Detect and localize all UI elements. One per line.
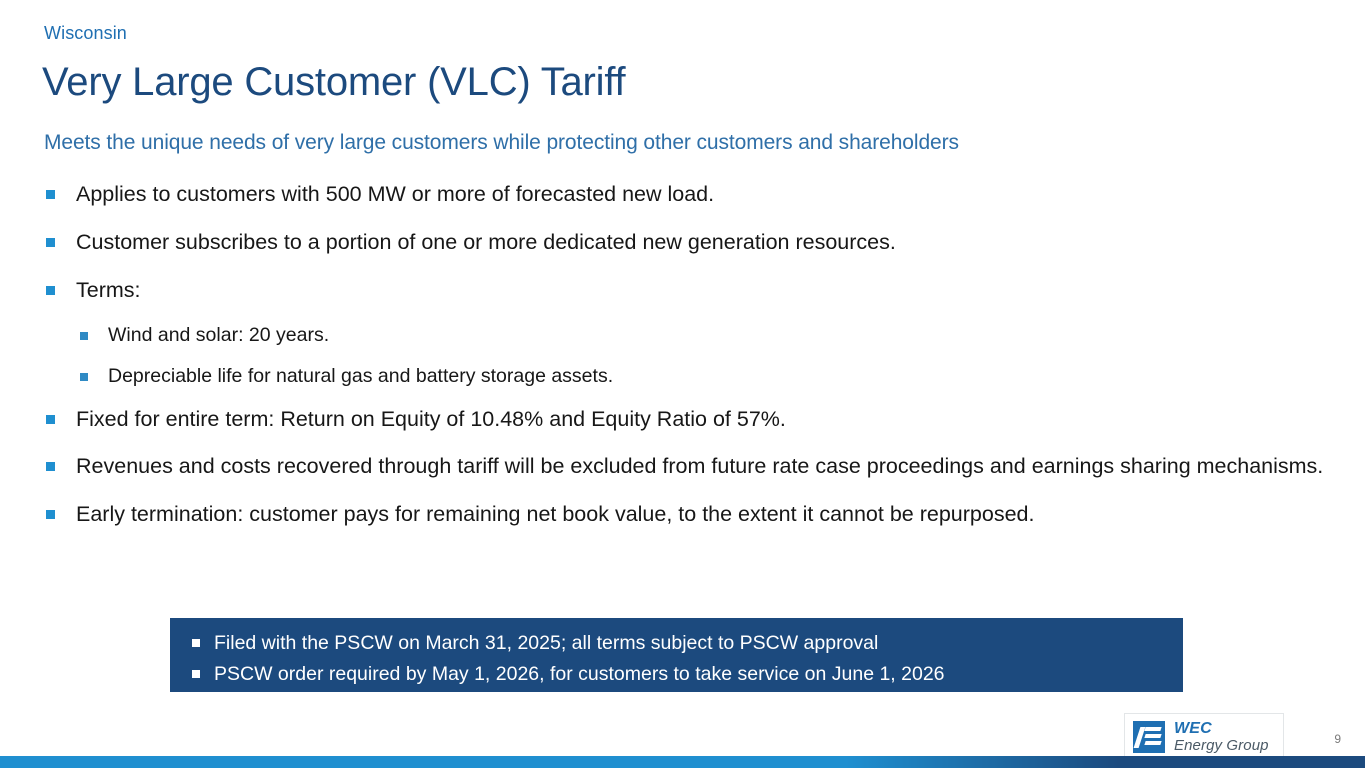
list-item: Wind and solar: 20 years.	[44, 320, 1344, 352]
bullet-square-icon	[46, 190, 55, 199]
bullet-square-icon	[46, 415, 55, 424]
callout-row: PSCW order required by May 1, 2026, for …	[184, 659, 1183, 690]
bullet-square-icon	[46, 238, 55, 247]
logo-wordmark: WEC Energy Group	[1174, 720, 1269, 755]
bullet-square-icon	[46, 462, 55, 471]
slide-eyebrow: Wisconsin	[44, 23, 127, 44]
list-item-label: Terms:	[76, 278, 141, 302]
list-item: Customer subscribes to a portion of one …	[44, 225, 1344, 260]
page-title: Very Large Customer (VLC) Tariff	[42, 60, 625, 105]
logo-line-2: Energy Group	[1174, 738, 1269, 755]
callout-row-label: PSCW order required by May 1, 2026, for …	[214, 663, 945, 685]
callout-row: Filed with the PSCW on March 31, 2025; a…	[184, 628, 1183, 659]
list-item: Depreciable life for natural gas and bat…	[44, 361, 1344, 393]
footer-accent-bar	[0, 756, 1365, 768]
bullet-list: Applies to customers with 500 MW or more…	[44, 177, 1344, 545]
bullet-square-icon	[46, 286, 55, 295]
list-item-label: Early termination: customer pays for rem…	[76, 502, 1034, 526]
slide-subtitle: Meets the unique needs of very large cus…	[44, 131, 959, 155]
slide: Wisconsin Very Large Customer (VLC) Tari…	[0, 0, 1365, 768]
bullet-square-icon	[192, 670, 200, 678]
list-item: Revenues and costs recovered through tar…	[44, 449, 1344, 484]
bullet-square-icon	[192, 639, 200, 647]
bullet-square-icon	[80, 332, 88, 340]
callout-row-label: Filed with the PSCW on March 31, 2025; a…	[214, 632, 878, 654]
wec-logo-mark-icon	[1133, 721, 1165, 753]
wec-energy-group-logo: WEC Energy Group	[1124, 713, 1284, 761]
list-item-label: Wind and solar: 20 years.	[108, 324, 329, 346]
list-item: Fixed for entire term: Return on Equity …	[44, 402, 1344, 437]
bullet-square-icon	[46, 510, 55, 519]
list-item-label: Fixed for entire term: Return on Equity …	[76, 407, 786, 431]
list-item-label: Applies to customers with 500 MW or more…	[76, 182, 714, 206]
list-item: Terms:	[44, 273, 1344, 308]
list-item: Applies to customers with 500 MW or more…	[44, 177, 1344, 212]
callout-box: Filed with the PSCW on March 31, 2025; a…	[170, 618, 1183, 692]
bullet-square-icon	[80, 373, 88, 381]
list-item-label: Depreciable life for natural gas and bat…	[108, 365, 613, 387]
logo-line-1: WEC	[1174, 720, 1269, 738]
list-item-label: Customer subscribes to a portion of one …	[76, 230, 896, 254]
list-item-label: Revenues and costs recovered through tar…	[76, 454, 1323, 478]
page-number: 9	[1334, 732, 1341, 746]
list-item: Early termination: customer pays for rem…	[44, 497, 1344, 532]
